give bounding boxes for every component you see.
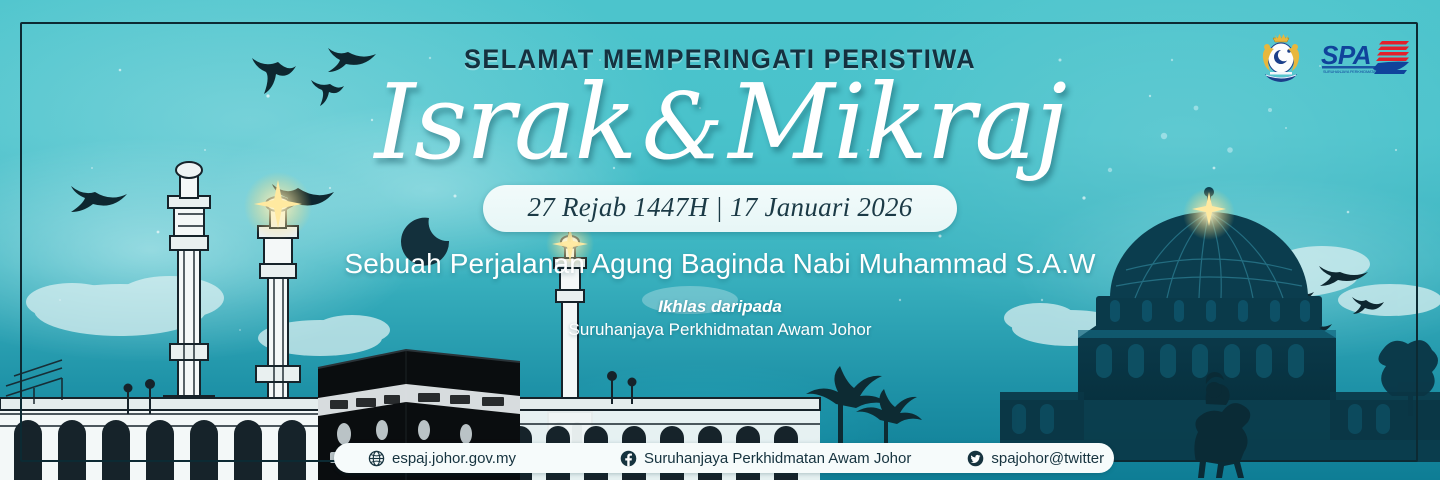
event-title-right: Mikraj — [728, 61, 1065, 183]
kicker-text: SELAMAT MEMPERINGATI PERISTIWA — [43, 44, 1397, 75]
date-pill: 27 Rejab 1447H | 17 Januari 2026 — [483, 185, 956, 232]
israk-mikraj-banner: SPA SURUHANJAYA PERKHIDMATAN AWAM SELAMA… — [0, 0, 1440, 480]
ampersand: & — [636, 73, 728, 180]
contact-website[interactable]: espaj.johor.gov.my — [368, 450, 516, 467]
twitter-icon — [967, 450, 984, 467]
globe-icon — [368, 450, 385, 467]
event-title: Israk&Mikraj — [0, 69, 1440, 175]
facebook-icon — [620, 450, 637, 467]
contact-bar: espaj.johor.gov.my Suruhanjaya Perkhidma… — [334, 443, 1114, 473]
contact-twitter[interactable]: spajohor@twitter — [967, 450, 1104, 467]
regards-line-2: Suruhanjaya Perkhidmatan Awam Johor — [0, 319, 1440, 342]
svg-text:SPA: SPA — [1321, 40, 1371, 70]
tagline-text: Sebuah Perjalanan Agung Baginda Nabi Muh… — [0, 248, 1440, 280]
event-title-left: Israk — [374, 61, 635, 183]
regards-block: Ikhlas daripada Suruhanjaya Perkhidmatan… — [0, 296, 1440, 342]
contact-facebook-label: Suruhanjaya Perkhidmatan Awam Johor — [644, 450, 911, 467]
regards-line-1: Ikhlas daripada — [0, 296, 1440, 319]
headline-block: SELAMAT MEMPERINGATI PERISTIWA Israk&Mik… — [0, 44, 1440, 342]
date-text: 27 Rejab 1447H | 17 Januari 2026 — [527, 192, 912, 222]
contact-twitter-label: spajohor@twitter — [991, 450, 1104, 467]
johor-crest-icon — [1258, 30, 1304, 86]
logo-group: SPA SURUHANJAYA PERKHIDMATAN AWAM — [1258, 30, 1414, 86]
contact-website-label: espaj.johor.gov.my — [392, 450, 516, 467]
spa-logo: SPA SURUHANJAYA PERKHIDMATAN AWAM — [1318, 35, 1414, 81]
contact-facebook[interactable]: Suruhanjaya Perkhidmatan Awam Johor — [620, 450, 911, 467]
